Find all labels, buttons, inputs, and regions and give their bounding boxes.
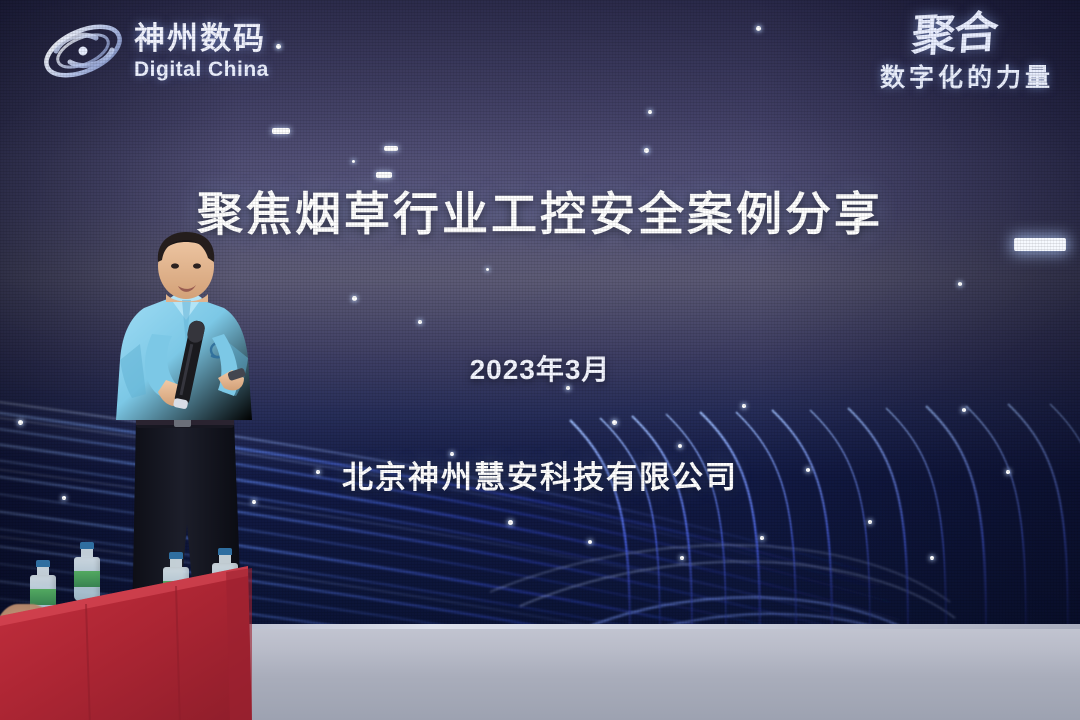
logo-english-name: Digital China <box>134 59 269 80</box>
digital-china-logo: 神州数码 Digital China <box>40 18 269 84</box>
fiber-strands-graphic <box>560 400 1080 628</box>
stage-photo: 神州数码 Digital China 聚合 数字化的力量 聚焦烟草行业工控安全案… <box>0 0 1080 720</box>
digital-china-swirl-icon <box>40 18 126 84</box>
event-tagline: 数字化的力量 <box>880 58 1054 94</box>
logo-chinese-name: 神州数码 <box>134 23 269 54</box>
event-logo: 聚合 数字化的力量 <box>880 16 1054 94</box>
event-calligraphy: 聚合 <box>878 13 997 59</box>
red-tablecloth <box>0 556 280 720</box>
